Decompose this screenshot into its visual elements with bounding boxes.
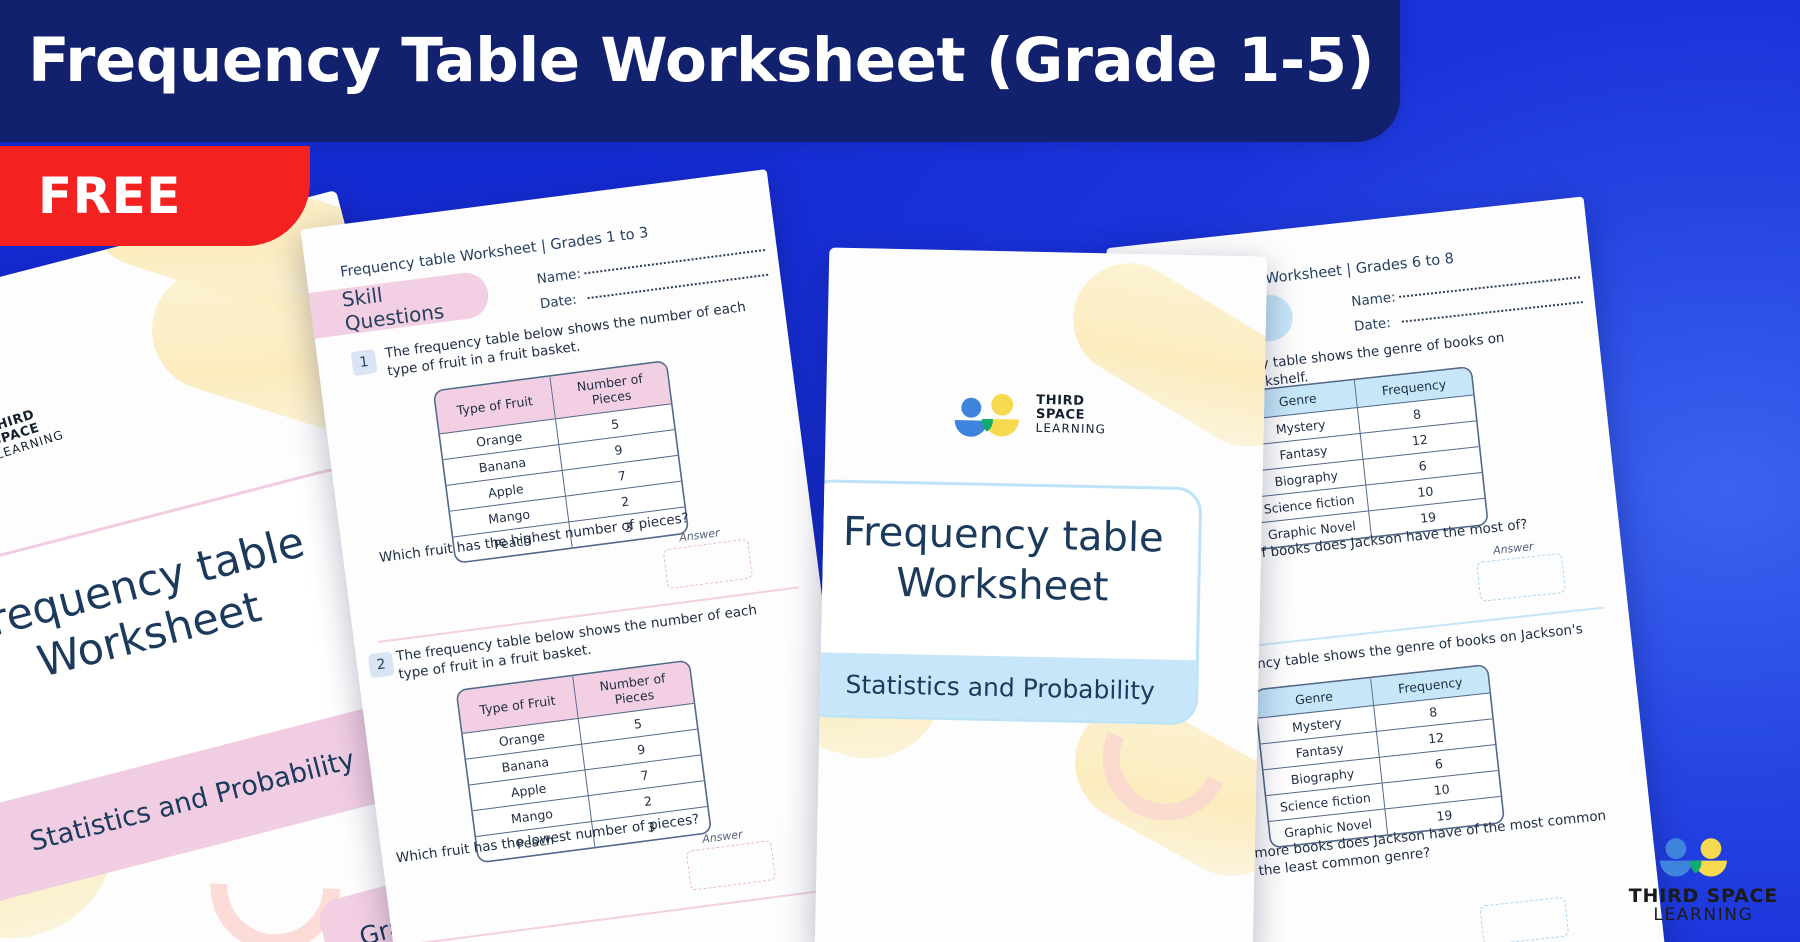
cover-sheet-middle: THIRD SPACE LEARNING Frequency table Wor… bbox=[815, 247, 1268, 942]
logo-text-line2: LEARNING bbox=[1035, 421, 1106, 437]
logo-text-line1: THIRD SPACE bbox=[1036, 394, 1107, 423]
third-space-learning-logo-icon bbox=[1644, 833, 1762, 885]
name-label: Name: bbox=[1351, 289, 1400, 310]
question-number: 2 bbox=[368, 651, 395, 678]
watermark-line2: LEARNING bbox=[1629, 906, 1778, 926]
cover-subject-band-middle: Statistics and Probability bbox=[815, 652, 1196, 722]
promo-image: THIRD SPACE LEARNING Frequency table Wor… bbox=[0, 0, 1800, 942]
question-prompt: The frequency table below shows the numb… bbox=[395, 598, 788, 684]
worksheet-sheet-left: Frequency table Worksheet | Grades 1 to … bbox=[300, 169, 869, 942]
skill-questions-pill-left: Skill Questions bbox=[300, 270, 491, 340]
question-number: 1 bbox=[351, 349, 378, 376]
frequency-table: Genre Frequency Mystery 8 Fantasy 12 Bio… bbox=[1255, 666, 1504, 847]
free-badge-label: FREE bbox=[0, 167, 181, 225]
answer-box[interactable] bbox=[1476, 553, 1566, 602]
watermark-line1: THIRD SPACE bbox=[1629, 887, 1778, 907]
date-label: Date: bbox=[1353, 314, 1402, 335]
answer-box[interactable] bbox=[663, 539, 753, 590]
third-space-learning-logo: THIRD SPACE LEARNING bbox=[951, 390, 1092, 455]
page-title: Frequency Table Worksheet (Grade 1-5) bbox=[0, 29, 1374, 92]
answer-label: Answer bbox=[701, 828, 743, 846]
frequency-table: Genre Frequency Mystery 8 Fantasy 12 Bio… bbox=[1239, 368, 1488, 549]
name-label: Name: bbox=[536, 265, 586, 287]
cover-title-card-middle: Frequency table Worksheet Statistics and… bbox=[815, 479, 1203, 725]
answer-box[interactable] bbox=[686, 840, 776, 891]
promo-banner: Frequency Table Worksheet (Grade 1-5) bbox=[0, 0, 1400, 142]
date-label: Date: bbox=[539, 290, 589, 312]
cover-title-middle: Frequency table Worksheet bbox=[815, 506, 1199, 614]
answer-box[interactable] bbox=[1479, 897, 1569, 942]
date-input-line[interactable] bbox=[1402, 300, 1583, 323]
free-badge: FREE bbox=[0, 146, 310, 246]
watermark-logo: THIRD SPACE LEARNING bbox=[1629, 833, 1778, 926]
answer-label: Answer bbox=[1492, 540, 1534, 557]
section-divider bbox=[401, 890, 822, 942]
name-input-line[interactable] bbox=[1399, 275, 1580, 298]
